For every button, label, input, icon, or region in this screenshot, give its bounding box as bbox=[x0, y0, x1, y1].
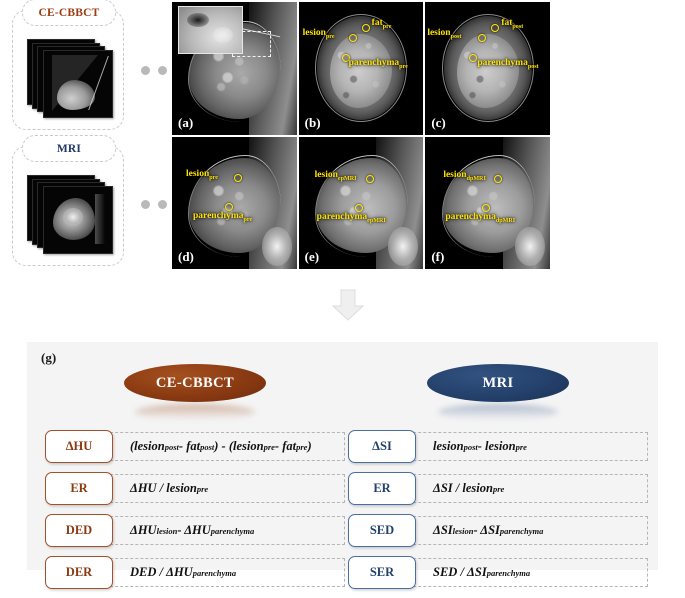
modality-title-mri: MRI bbox=[22, 135, 116, 162]
formula-row: ΔSI lesionpost - lesionpre bbox=[348, 430, 648, 461]
panel-label-b: (b) bbox=[305, 115, 321, 131]
marker-parenchyma bbox=[482, 204, 490, 212]
marker-lesion bbox=[494, 175, 502, 183]
marker-parenchyma bbox=[355, 204, 363, 212]
ellipse-shadow bbox=[438, 404, 558, 420]
formula-expression: SED / ΔSIparenchyma bbox=[398, 558, 648, 587]
panel-d: lesionpre parenchymapre (d) bbox=[172, 137, 297, 270]
marker-lesion bbox=[366, 175, 374, 183]
ellipse-shadow bbox=[135, 404, 255, 420]
marker-lesion bbox=[234, 174, 242, 182]
column-heading-mri: MRI bbox=[427, 364, 569, 402]
column-heading-cbbct: CE-CBBCT bbox=[124, 364, 266, 402]
annotation-lesion: lesiondpMRI bbox=[443, 170, 486, 182]
formula-tag: ER bbox=[348, 472, 416, 505]
formula-tag: SER bbox=[348, 556, 416, 589]
formula-column-mri: MRI ΔSI lesionpost - lesionpre ER ΔSI / … bbox=[348, 364, 648, 598]
formula-panel: (g) CE-CBBCT ΔHU (lesionpost - fatpost) … bbox=[27, 342, 658, 570]
formula-expression: DED / ΔHUparenchyma bbox=[95, 558, 345, 587]
formula-expression: ΔHUlesion - ΔHUparenchyma bbox=[95, 516, 345, 545]
annotation-parenchyma: parenchymapre bbox=[349, 58, 408, 70]
panel-f: lesiondpMRI parenchymadpMRI (f) bbox=[425, 137, 550, 270]
formula-row: ΔHU (lesionpost - fatpost) - (lesionpre … bbox=[45, 430, 345, 461]
marker-lesion bbox=[349, 34, 357, 42]
cbbct-thumbnail-anatomy bbox=[50, 55, 106, 113]
annotation-lesion: lesionpre bbox=[186, 169, 218, 181]
formula-expression: ΔSIlesion - ΔSIparenchyma bbox=[398, 516, 648, 545]
panel-e: lesionepMRI parenchymaepMRI (e) bbox=[299, 137, 424, 270]
annotation-lesion: lesionpre bbox=[303, 28, 335, 40]
annotation-parenchyma: parenchymadpMRI bbox=[445, 212, 515, 224]
panel-label-e: (e) bbox=[305, 249, 319, 265]
annotation-lesion: lesionpost bbox=[427, 28, 461, 40]
modality-title-cbbct: CE-CBBCT bbox=[22, 0, 116, 26]
formula-tag: DER bbox=[45, 556, 113, 589]
cbbct-slice-stack bbox=[27, 39, 113, 117]
annotation-parenchyma: parenchymapost bbox=[477, 58, 538, 70]
formula-expression: lesionpost - lesionpre bbox=[398, 432, 648, 461]
modality-card-cbbct: CE-CBBCT bbox=[12, 10, 124, 130]
mri-thumbnail-anatomy bbox=[49, 192, 107, 248]
formula-tag: ER bbox=[45, 472, 113, 505]
annotation-fat: fatpost bbox=[501, 18, 523, 30]
formula-rows-mri: ΔSI lesionpost - lesionpre ER ΔSI / lesi… bbox=[348, 430, 648, 587]
annotation-fat: fatpre bbox=[372, 18, 392, 30]
panel-label-c: (c) bbox=[431, 115, 445, 131]
formula-row: ER ΔHU / lesionpre bbox=[45, 472, 345, 503]
annotation-parenchyma: parenchymapre bbox=[193, 211, 252, 223]
formula-row: SER SED / ΔSIparenchyma bbox=[348, 556, 648, 587]
formula-rows-cbbct: ΔHU (lesionpost - fatpost) - (lesionpre … bbox=[45, 430, 345, 587]
panel-b: fatpre lesionpre parenchymapre (b) bbox=[299, 2, 424, 135]
formula-row: ER ΔSI / lesionpre bbox=[348, 472, 648, 503]
formula-row: SED ΔSIlesion - ΔSIparenchyma bbox=[348, 514, 648, 545]
formula-column-cbbct: CE-CBBCT ΔHU (lesionpost - fatpost) - (l… bbox=[45, 364, 345, 598]
formula-row: DER DED / ΔHUparenchyma bbox=[45, 556, 345, 587]
formula-tag: ΔSI bbox=[348, 430, 416, 463]
modality-card-mri: MRI bbox=[12, 146, 124, 266]
formula-row: DED ΔHUlesion - ΔHUparenchyma bbox=[45, 514, 345, 545]
panel-label-d: (d) bbox=[178, 249, 194, 265]
annotation-parenchyma: parenchymaepMRI bbox=[317, 212, 386, 224]
mri-slice-stack bbox=[27, 175, 113, 253]
stack-slice-front bbox=[43, 50, 113, 118]
zoom-inset bbox=[178, 6, 243, 54]
panel-a: (a) bbox=[172, 2, 297, 135]
image-panel-grid: (a) fatpre lesionpre parenchymapre (b) f… bbox=[172, 2, 550, 269]
formula-expression: ΔHU / lesionpre bbox=[95, 474, 345, 503]
formula-expression: ΔSI / lesionpre bbox=[398, 474, 648, 503]
stack-slice-front bbox=[43, 186, 113, 254]
down-arrow-icon bbox=[330, 288, 366, 322]
marker-parenchyma bbox=[225, 203, 233, 211]
formula-tag: SED bbox=[348, 514, 416, 547]
panel-label-a: (a) bbox=[178, 115, 193, 131]
panel-c: fatpost lesionpost parenchymapost (c) bbox=[425, 2, 550, 135]
marker-fat bbox=[362, 24, 370, 32]
formula-tag: ΔHU bbox=[45, 430, 113, 463]
formula-expression: (lesionpost - fatpost) - (lesionpre - fa… bbox=[95, 432, 345, 461]
panel-label-f: (f) bbox=[431, 249, 444, 265]
annotation-lesion: lesionepMRI bbox=[315, 170, 357, 182]
formula-tag: DED bbox=[45, 514, 113, 547]
